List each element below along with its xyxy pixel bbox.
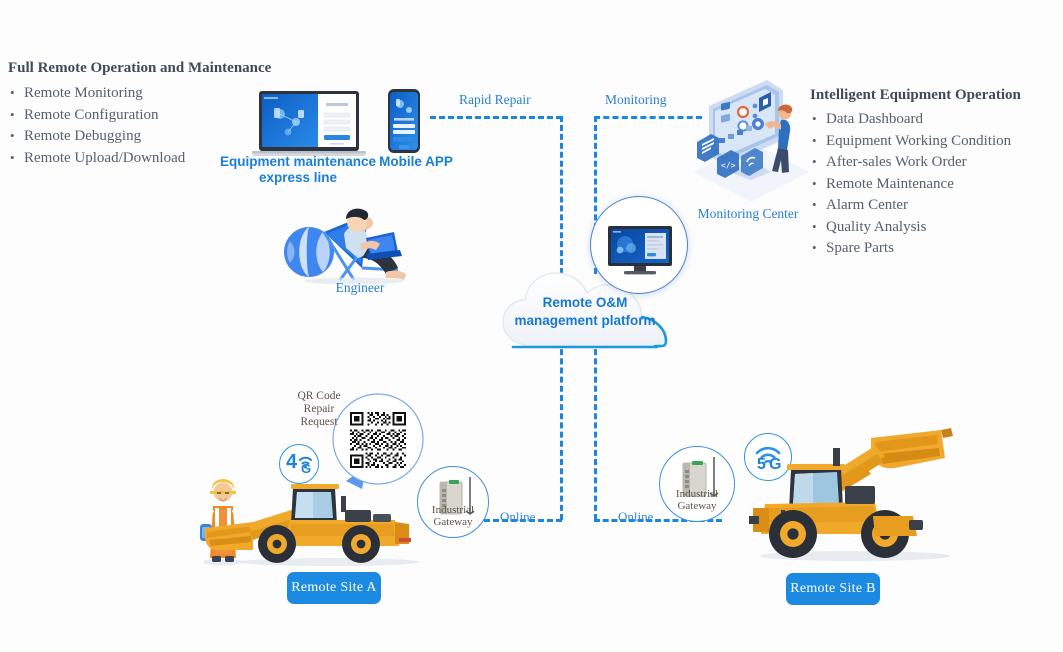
laptop-caption: Equipment maintenance express line: [216, 154, 380, 186]
industrial-gateway-icon: [418, 467, 490, 539]
status-label-online-right: Online: [618, 509, 653, 525]
right-feature-panel: Intelligent Equipment Operation Data Das…: [810, 87, 1021, 260]
engineer-node: [282, 196, 432, 284]
right-panel-list: Data Dashboard Equipment Working Conditi…: [810, 109, 1021, 260]
right-list-item: Remote Maintenance: [810, 174, 1021, 196]
right-panel-heading: Intelligent Equipment Operation: [810, 87, 1021, 104]
svg-text:</>: </>: [721, 161, 736, 170]
connector-site-a-vertical: [560, 340, 563, 520]
right-list-item: Quality Analysis: [810, 217, 1021, 239]
engineer-caption: Engineer: [312, 280, 408, 296]
monitor-circle-node[interactable]: [590, 196, 688, 294]
qr-caption-line1: QR Code: [278, 390, 360, 403]
left-panel-heading: Full Remote Operation and Maintenance: [8, 60, 271, 77]
site-badge-b-label: Remote Site B: [790, 581, 876, 597]
right-list-item: Alarm Center: [810, 195, 1021, 217]
connector-label-rapid-repair: Rapid Repair: [459, 92, 531, 108]
monitor-icon: [591, 197, 689, 295]
remote-site-a-equipment: [195, 462, 425, 568]
diagram-canvas: Full Remote Operation and Maintenance Re…: [0, 0, 1063, 652]
left-list-item: Remote Debugging: [8, 126, 271, 148]
site-badge-a[interactable]: Remote Site A: [287, 572, 381, 604]
engineer-illustration: [282, 196, 432, 284]
left-feature-panel: Full Remote Operation and Maintenance Re…: [8, 60, 271, 169]
connector-rapid-repair-vertical: [560, 116, 563, 274]
right-list-item: Spare Parts: [810, 238, 1021, 260]
right-list-item: After-sales Work Order: [810, 152, 1021, 174]
connector-label-monitoring: Monitoring: [605, 92, 667, 108]
industrial-gateway-b[interactable]: Industrial Gateway: [659, 446, 735, 522]
qr-caption-line2: Repair: [278, 403, 360, 416]
gateway-a-label-line2: Gateway: [418, 516, 488, 528]
laptop-caption-line2: express line: [216, 170, 380, 186]
right-list-item: Data Dashboard: [810, 109, 1021, 131]
site-badge-b[interactable]: Remote Site B: [786, 573, 880, 605]
monitoring-center-node: </>: [685, 76, 815, 202]
gateway-b-label-line2: Gateway: [660, 500, 734, 512]
gateway-a-label: Industrial Gateway: [418, 504, 488, 528]
status-label-online-left: Online: [500, 509, 535, 525]
left-list-item: Remote Configuration: [8, 105, 271, 127]
monitoring-center-illustration: </>: [685, 76, 815, 202]
mobile-app-caption: Mobile APP: [376, 154, 456, 170]
site-badge-a-label: Remote Site A: [291, 580, 377, 596]
mobile-app-node[interactable]: [384, 88, 424, 154]
wheel-loader-illustration-a: [195, 462, 425, 568]
qr-caption-line3: Request: [278, 416, 360, 429]
remote-site-b-equipment: [745, 424, 960, 564]
connector-site-b-vertical: [594, 340, 597, 520]
industrial-gateway-a[interactable]: Industrial Gateway: [417, 466, 489, 538]
qr-code-caption: QR Code Repair Request: [278, 390, 360, 429]
monitoring-center-caption: Monitoring Center: [684, 206, 812, 222]
wheel-loader-illustration-b: [745, 424, 960, 564]
laptop-node[interactable]: [250, 88, 368, 160]
cloud-title-line2: management platform: [495, 312, 675, 330]
gateway-b-label: Industrial Gateway: [660, 488, 734, 512]
right-list-item: Equipment Working Condition: [810, 131, 1021, 153]
gateway-a-label-line1: Industrial: [418, 504, 488, 516]
mobile-phone-icon: [384, 88, 424, 154]
gateway-b-label-line1: Industrial: [660, 488, 734, 500]
laptop-caption-line1: Equipment maintenance: [216, 154, 380, 170]
left-list-item: Remote Monitoring: [8, 83, 271, 105]
laptop-icon: [250, 88, 368, 160]
cloud-title-line1: Remote O&M: [495, 294, 675, 312]
connector-rapid-repair-horizontal: [430, 116, 562, 119]
